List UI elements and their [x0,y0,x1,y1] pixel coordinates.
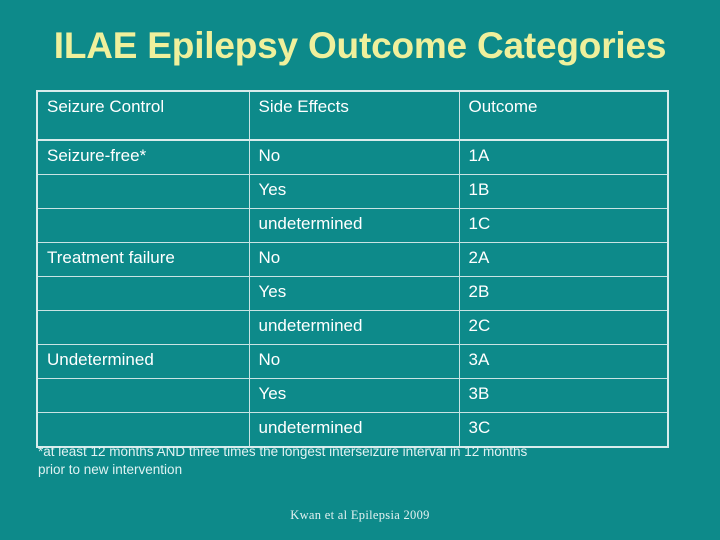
cell-side-effects: No [249,243,459,277]
cell-outcome: 2B [459,277,668,311]
table-row: Yes 2B [37,277,668,311]
cell-seizure-control [37,277,249,311]
cell-outcome: 3C [459,413,668,448]
table-row: undetermined 2C [37,311,668,345]
cell-seizure-control [37,209,249,243]
cell-outcome: 2A [459,243,668,277]
cell-seizure-control: Treatment failure [37,243,249,277]
table-row: Treatment failure No 2A [37,243,668,277]
table-row: undetermined 3C [37,413,668,448]
cell-side-effects: undetermined [249,209,459,243]
cell-side-effects: No [249,140,459,175]
cell-side-effects: undetermined [249,311,459,345]
table-row: Yes 1B [37,175,668,209]
column-header-side-effects: Side Effects [249,91,459,140]
cell-outcome: 1C [459,209,668,243]
footnote-line-2: prior to new intervention [38,461,658,479]
outcome-categories-table: Seizure Control Side Effects Outcome Sei… [36,90,669,448]
cell-seizure-control: Seizure-free* [37,140,249,175]
footnote: *at least 12 months AND three times the … [38,443,658,479]
cell-outcome: 3B [459,379,668,413]
table-row: Yes 3B [37,379,668,413]
cell-outcome: 2C [459,311,668,345]
column-header-outcome: Outcome [459,91,668,140]
table-row: Undetermined No 3A [37,345,668,379]
page-title: ILAE Epilepsy Outcome Categories [0,25,720,67]
cell-seizure-control [37,311,249,345]
citation-reference: Kwan et al Epilepsia 2009 [0,508,720,523]
table-header-row: Seizure Control Side Effects Outcome [37,91,668,140]
cell-side-effects: Yes [249,379,459,413]
cell-side-effects: Yes [249,277,459,311]
cell-outcome: 1A [459,140,668,175]
cell-outcome: 1B [459,175,668,209]
table-row: undetermined 1C [37,209,668,243]
cell-outcome: 3A [459,345,668,379]
table-row: Seizure-free* No 1A [37,140,668,175]
cell-seizure-control [37,379,249,413]
footnote-line-1: *at least 12 months AND three times the … [38,443,658,461]
table-body: Seizure-free* No 1A Yes 1B undetermined … [37,140,668,447]
column-header-seizure-control: Seizure Control [37,91,249,140]
presentation-slide: ILAE Epilepsy Outcome Categories Seizure… [0,0,720,540]
cell-seizure-control [37,175,249,209]
cell-seizure-control [37,413,249,448]
cell-side-effects: undetermined [249,413,459,448]
cell-side-effects: No [249,345,459,379]
cell-seizure-control: Undetermined [37,345,249,379]
cell-side-effects: Yes [249,175,459,209]
